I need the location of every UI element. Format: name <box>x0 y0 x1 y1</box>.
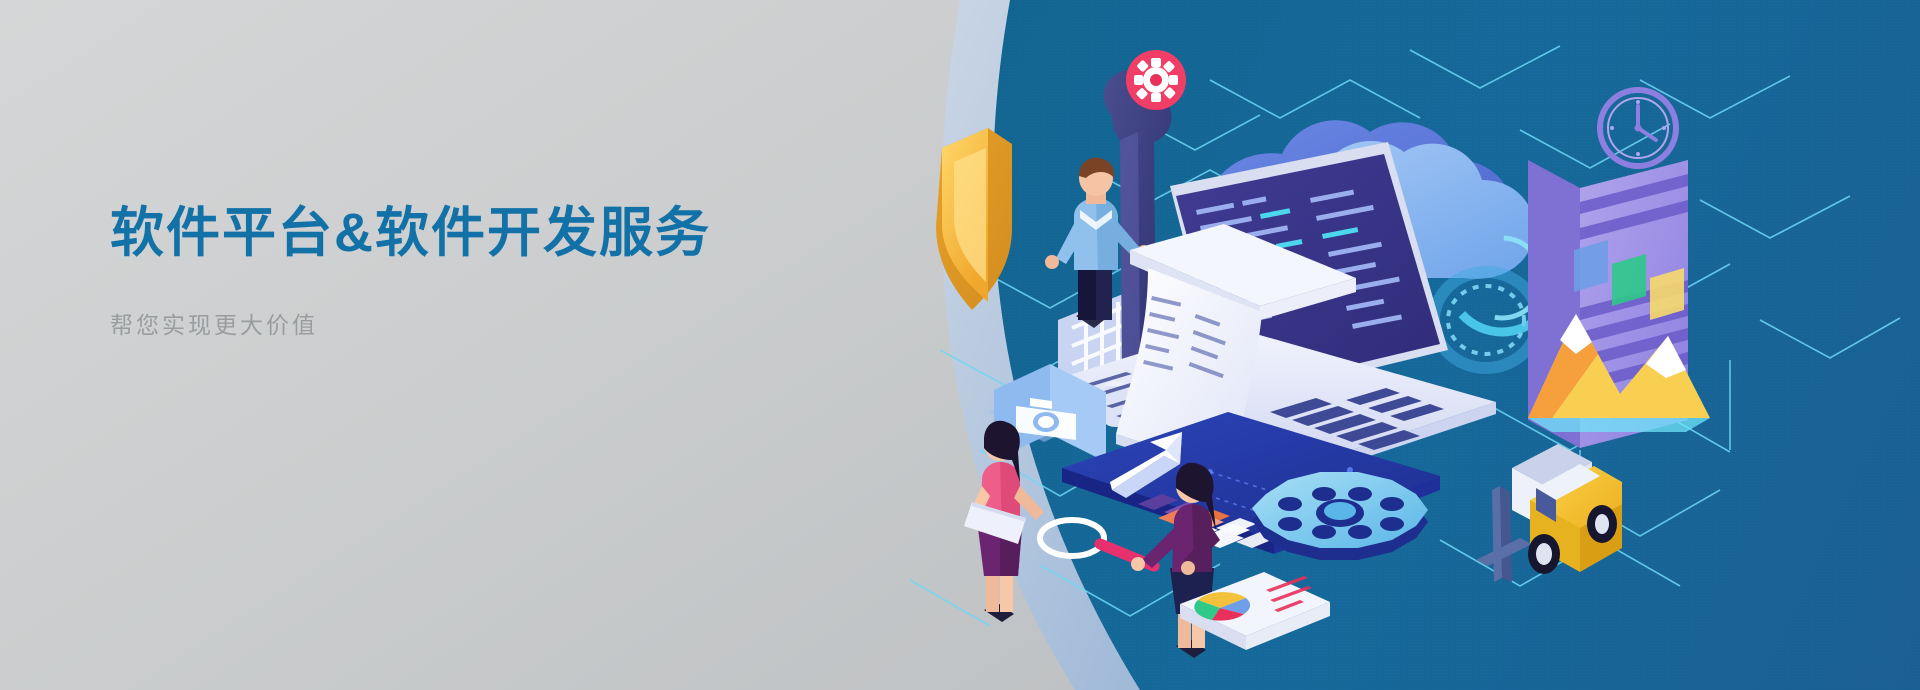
shield-icon <box>936 128 1012 310</box>
page-subtitle: 帮您实现更大价值 <box>110 306 830 340</box>
analyst-woman <box>964 421 1044 622</box>
gear-badge-icon <box>1126 50 1186 110</box>
clock-icon <box>1600 90 1676 166</box>
hero-text-block: 软件平台&软件开发服务 帮您实现更大价值 <box>110 200 830 340</box>
page-title: 软件平台&软件开发服务 <box>110 200 830 268</box>
forklift <box>1476 444 1622 582</box>
illustration-scene <box>880 20 1920 670</box>
hero-banner: 软件平台&软件开发服务 帮您实现更大价值 <box>0 0 1920 690</box>
